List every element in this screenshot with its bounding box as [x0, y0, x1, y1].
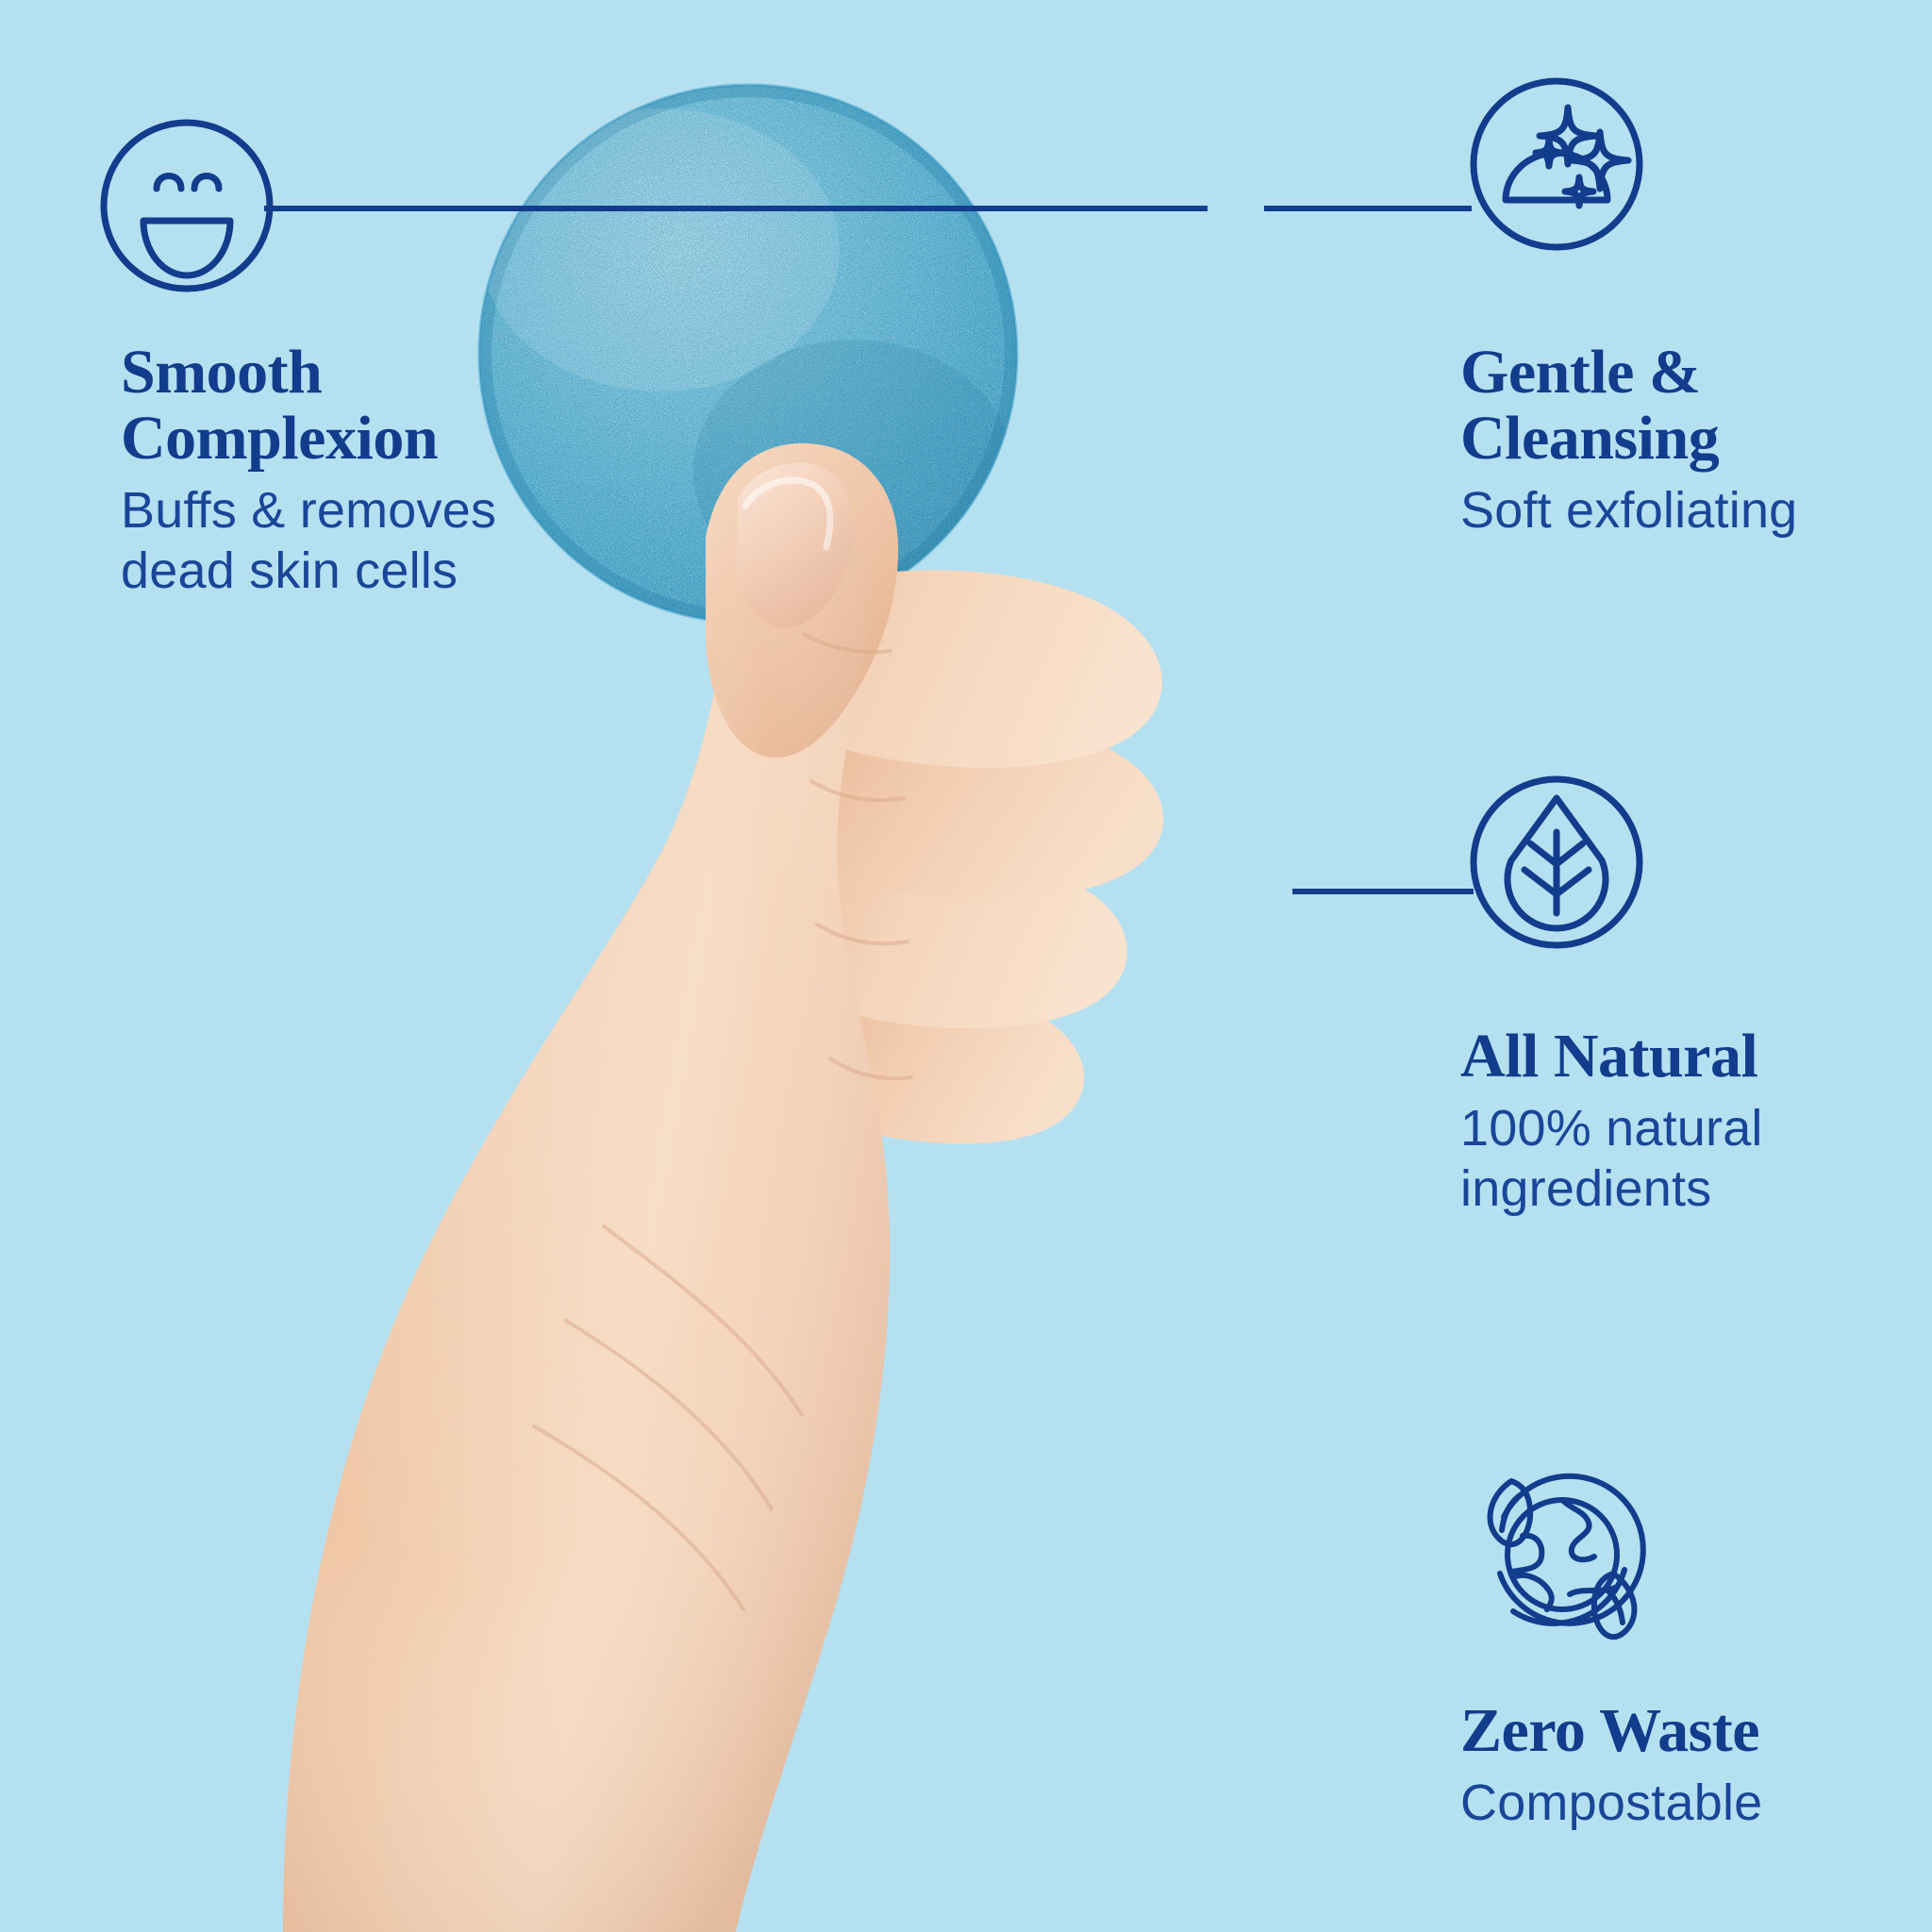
feature-all-natural: All Natural 100% natural ingredients — [1460, 1024, 1904, 1219]
feature-title-line1: All Natural — [1460, 1022, 1757, 1091]
thumbnail — [737, 463, 854, 628]
sponge-sparkle-icon — [1468, 75, 1645, 321]
connector-line-all-natural — [1292, 889, 1474, 894]
connector-line-gentle-cleansing — [1264, 206, 1472, 211]
feature-subtitle-line2: ingredients — [1460, 1160, 1711, 1217]
smiley-face-icon — [98, 72, 275, 343]
feature-subtitle: Compostable — [1460, 1774, 1904, 1834]
earth-recycle-leaves-icon — [1468, 1453, 1657, 1679]
feature-subtitle-line2: dead skin cells — [121, 542, 458, 599]
feature-title-line1: Gentle & — [1460, 338, 1700, 407]
connector-line-smooth-complexion — [264, 206, 1207, 211]
leaf-droplet-icon — [1468, 774, 1645, 1019]
feature-gentle-cleansing: Gentle & Cleansing Soft exfoliating — [1460, 340, 1904, 541]
ring-finger — [758, 856, 1127, 1028]
feature-title-line2: Cleansing — [1460, 404, 1719, 473]
feature-subtitle: Soft exfoliating — [1460, 481, 1904, 541]
hand — [283, 443, 1163, 1932]
pinky-finger — [769, 987, 1084, 1143]
feature-title: All Natural — [1460, 1024, 1904, 1090]
middle-finger — [752, 716, 1164, 900]
feature-subtitle-line1: Compostable — [1460, 1774, 1762, 1831]
feature-title: Zero Waste — [1460, 1698, 1904, 1764]
infographic-canvas: Smooth Complexion Buffs & removes dead s… — [0, 0, 1932, 1932]
thumbnail-highlight — [745, 480, 830, 547]
feature-title-line2: Complexion — [121, 404, 438, 473]
feature-subtitle: Buffs & removes dead skin cells — [121, 481, 564, 601]
feature-title-line1: Smooth — [121, 338, 322, 407]
feature-subtitle-line1: Soft exfoliating — [1460, 482, 1797, 539]
feature-subtitle-line1: 100% natural — [1460, 1100, 1763, 1157]
index-finger — [738, 570, 1161, 767]
palm-shading — [283, 505, 890, 1932]
feature-title: Gentle & Cleansing — [1460, 340, 1904, 472]
thumb — [706, 443, 898, 758]
feature-title-line1: Zero Waste — [1460, 1696, 1759, 1765]
feature-zero-waste: Zero Waste Compostable — [1460, 1698, 1904, 1834]
palm — [283, 505, 890, 1932]
feature-subtitle: 100% natural ingredients — [1460, 1099, 1904, 1219]
skin-creases — [534, 634, 911, 1609]
feature-subtitle-line1: Buffs & removes — [121, 482, 496, 539]
feature-smooth-complexion: Smooth Complexion Buffs & removes dead s… — [121, 340, 564, 601]
feature-title: Smooth Complexion — [121, 340, 564, 472]
